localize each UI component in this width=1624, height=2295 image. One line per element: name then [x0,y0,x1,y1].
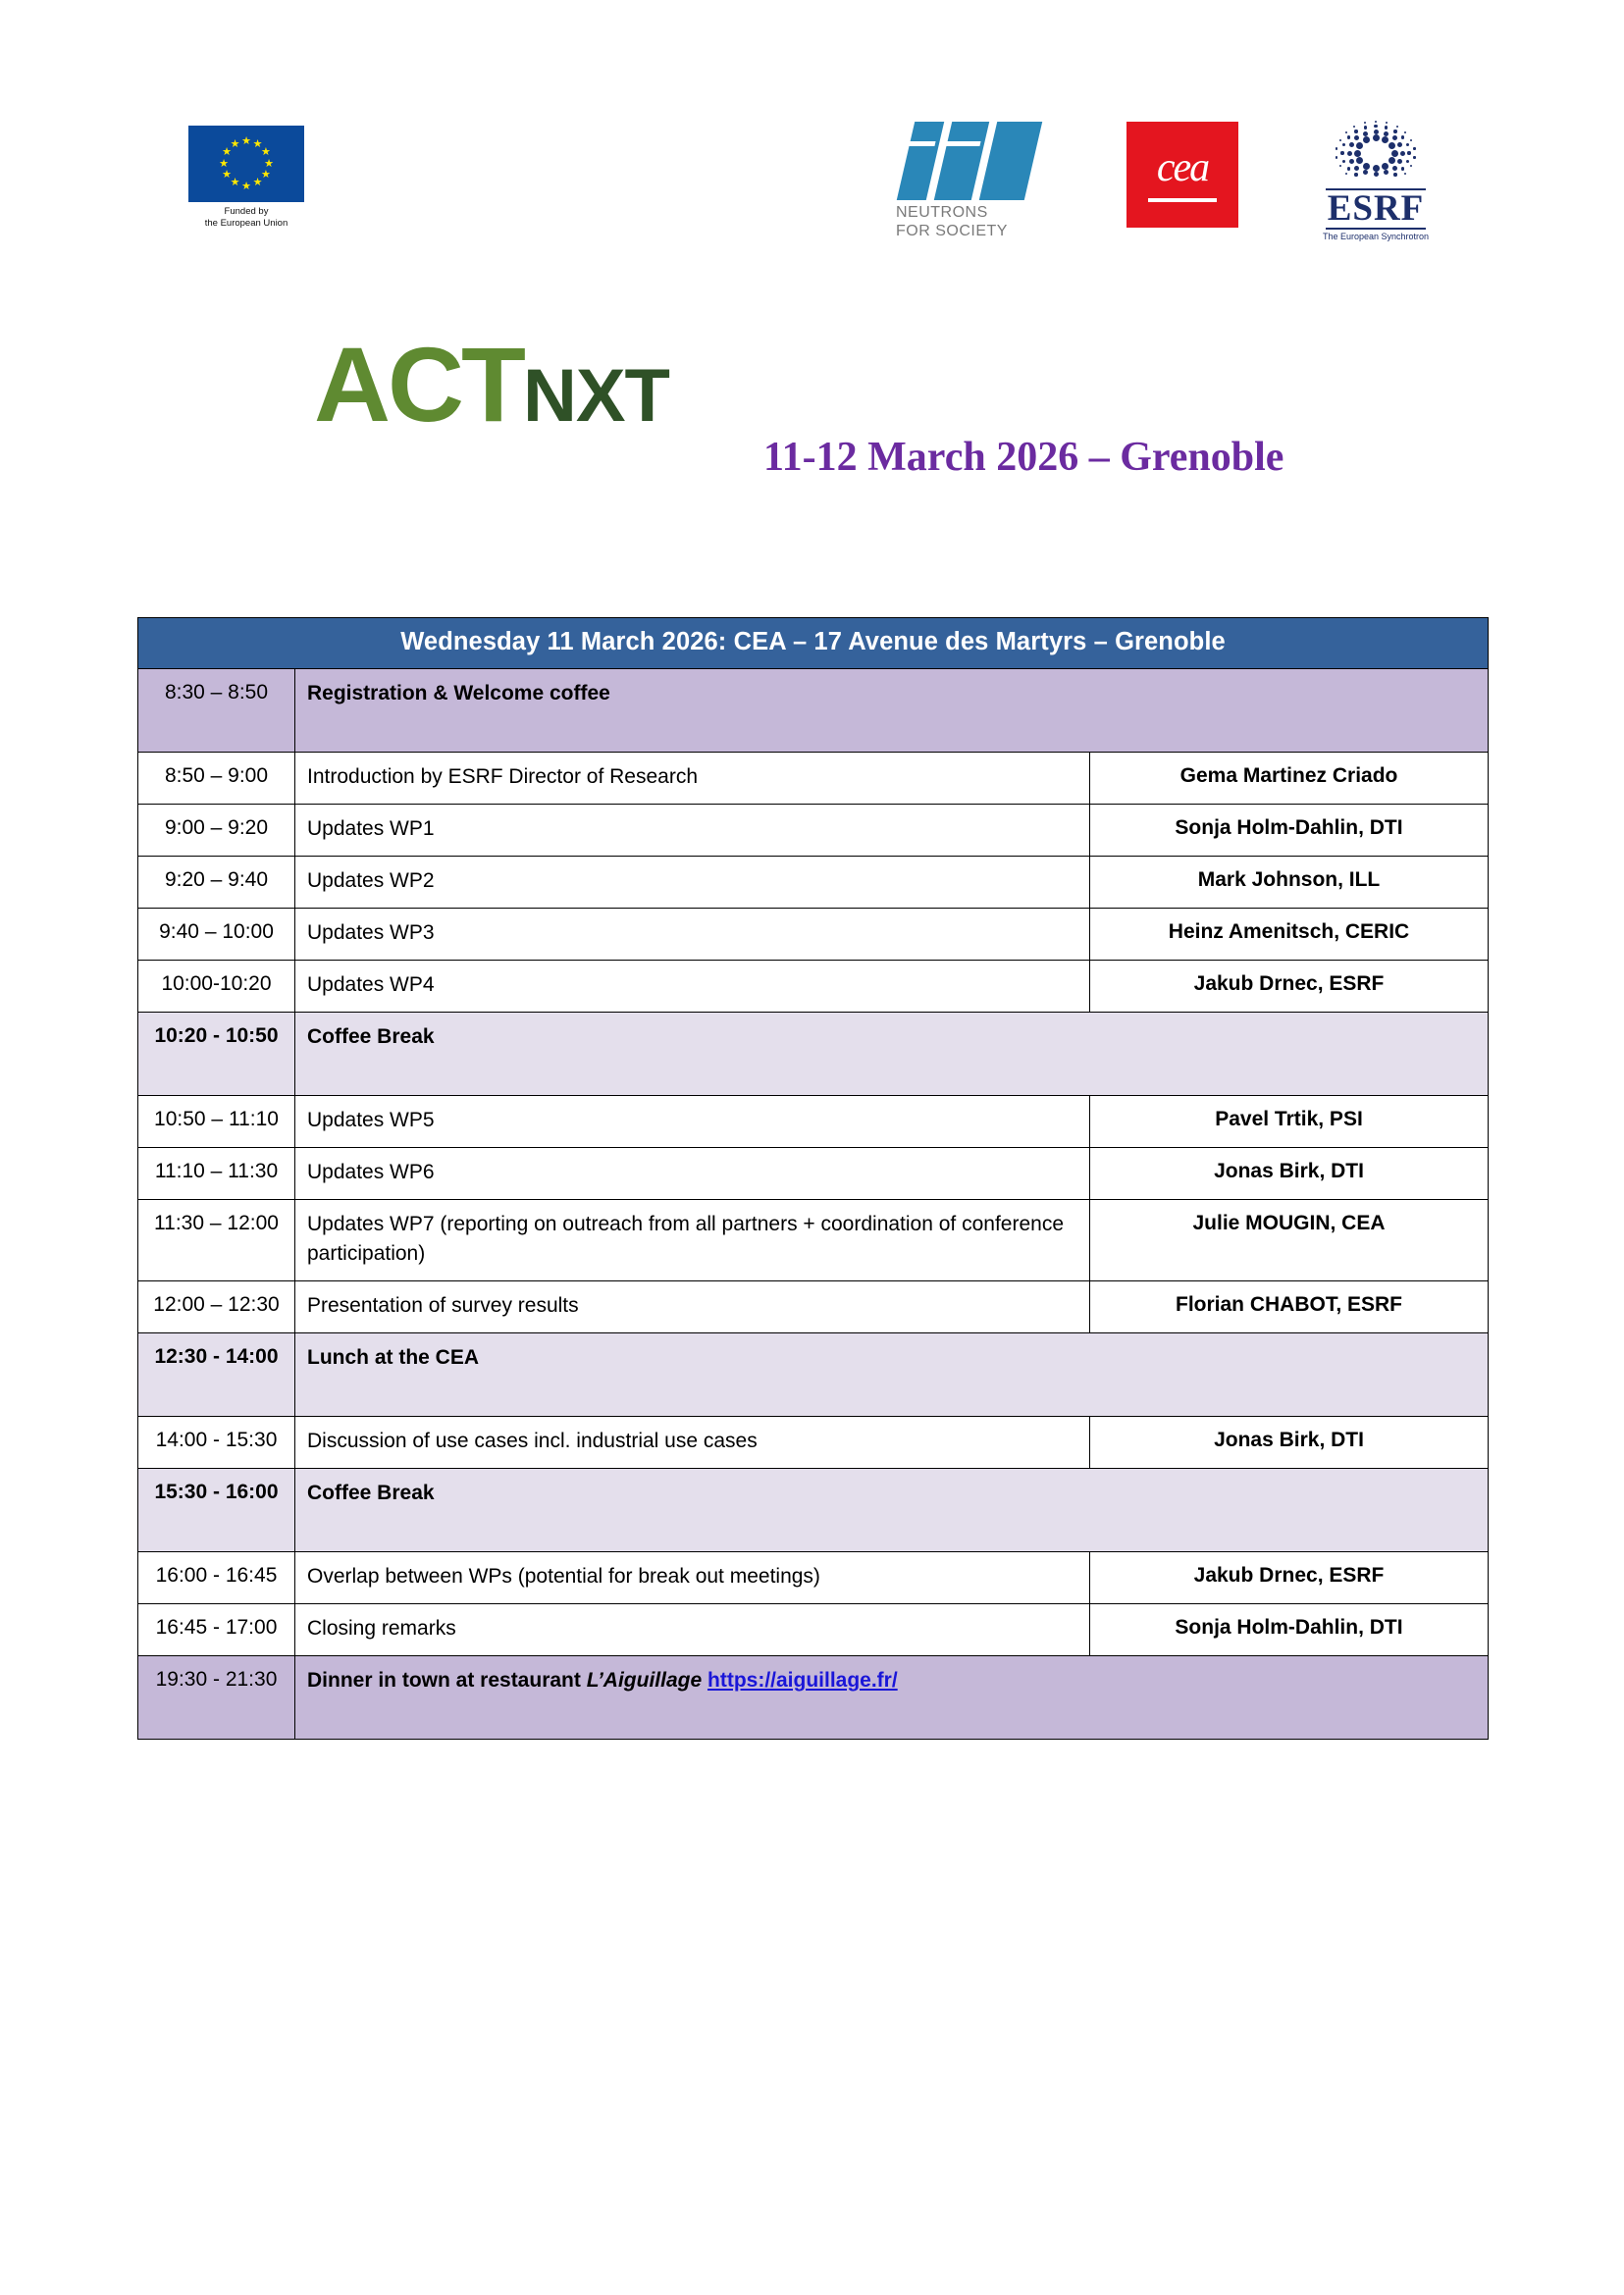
esrf-dot-icon [1397,159,1402,164]
esrf-dot-icon [1354,150,1361,157]
agenda-row-speaker: Jonas Birk, DTI [1090,1417,1489,1469]
esrf-dot-icon [1385,126,1388,129]
esrf-dot-icon [1413,156,1415,158]
agenda-row-time: 9:20 – 9:40 [138,857,295,909]
agenda-row-speaker: Julie MOUGIN, CEA [1090,1200,1489,1281]
ill-text-line2: FOR SOCIETY [896,222,1063,240]
agenda-row-activity: Updates WP1 [295,805,1090,857]
agenda-row-speaker: Pavel Trtik, PSI [1090,1096,1489,1148]
agenda-row-time: 16:45 - 17:00 [138,1604,295,1656]
esrf-dot-icon [1388,142,1395,149]
esrf-dot-icon [1375,121,1377,123]
esrf-dot-icon [1393,130,1396,132]
agenda-row-speaker: Sonja Holm-Dahlin, DTI [1090,805,1489,857]
agenda-row-time: 10:50 – 11:10 [138,1096,295,1148]
esrf-dot-icon [1342,143,1345,146]
agenda-row-time: 15:30 - 16:00 [138,1469,295,1552]
agenda-row-time: 9:40 – 10:00 [138,909,295,961]
esrf-dot-icon [1400,151,1405,156]
esrf-wordmark: ESRF [1326,188,1427,230]
agenda-row-activity: Dinner in town at restaurant L’Aiguillag… [295,1656,1489,1740]
agenda-row-activity: Overlap between WPs (potential for break… [295,1552,1090,1604]
agenda-row-speaker: Sonja Holm-Dahlin, DTI [1090,1604,1489,1656]
agenda-day-header-row: Wednesday 11 March 2026: CEA – 17 Avenue… [138,618,1489,669]
esrf-dot-icon [1347,135,1350,138]
eu-caption-line2: the European Union [183,218,310,230]
restaurant-website-link[interactable]: https://aiguillage.fr/ [707,1669,898,1692]
esrf-dot-icon [1384,131,1388,136]
eu-star-icon: ★ [222,170,233,181]
esrf-dot-icon [1339,165,1341,167]
agenda-row-activity: Coffee Break [295,1469,1489,1552]
esrf-dot-icon [1373,134,1380,141]
agenda-row-activity: Closing remarks [295,1604,1090,1656]
eu-star-icon: ★ [260,147,271,158]
actnxt-logo-act: ACT [314,325,523,443]
esrf-dot-icon [1336,147,1337,149]
esrf-dot-icon [1401,135,1404,138]
esrf-dot-icon [1392,166,1397,171]
esrf-dot-icon [1386,122,1388,124]
agenda-row-activity: Registration & Welcome coffee [295,669,1489,753]
actnxt-logo: ACTNXT [314,332,669,438]
esrf-dot-icon [1397,142,1402,147]
esrf-dot-icon [1340,151,1343,154]
esrf-dot-icon [1363,170,1368,175]
esrf-dot-icon [1374,172,1379,177]
esrf-dot-icon [1347,167,1350,170]
esrf-dot-icon [1339,139,1341,141]
agenda-row: 9:00 – 9:20Updates WP1Sonja Holm-Dahlin,… [138,805,1489,857]
esrf-tagline: The European Synchrotron [1307,232,1444,241]
agenda-row-speaker: Florian CHABOT, ESRF [1090,1281,1489,1333]
esrf-dot-icon [1407,151,1410,154]
agenda-row: 8:50 – 9:00Introduction by ESRF Director… [138,753,1489,805]
title-block: ACTNXT 11-12 March 2026 – Grenoble [0,332,1624,518]
agenda-row-speaker: Jakub Drnec, ESRF [1090,961,1489,1013]
esrf-logo: ESRF The European Synchrotron [1307,116,1444,241]
agenda-row-activity: Updates WP2 [295,857,1090,909]
esrf-ring-icon [1317,116,1435,188]
agenda-row: 15:30 - 16:00Coffee Break [138,1469,1489,1552]
eu-star-icon: ★ [230,139,240,150]
esrf-dot-icon [1374,125,1377,128]
agenda-row-speaker: Jakub Drnec, ESRF [1090,1552,1489,1604]
agenda-row-time: 12:30 - 14:00 [138,1333,295,1417]
eu-star-icon: ★ [252,178,263,188]
esrf-dot-icon [1336,156,1337,158]
dinner-prefix: Dinner in town at restaurant [307,1669,587,1692]
esrf-dot-icon [1373,165,1380,172]
agenda-row-activity: Updates WP5 [295,1096,1090,1148]
esrf-dot-icon [1406,160,1409,163]
agenda-row: 11:10 – 11:30Updates WP6Jonas Birk, DTI [138,1148,1489,1200]
eu-star-icon: ★ [241,136,252,147]
agenda-day-header: Wednesday 11 March 2026: CEA – 17 Avenue… [138,618,1489,669]
esrf-dot-icon [1349,159,1354,164]
esrf-dot-icon [1342,160,1345,163]
esrf-dot-icon [1353,126,1355,128]
esrf-dot-icon [1354,130,1357,132]
agenda-row: 9:40 – 10:00Updates WP3Heinz Amenitsch, … [138,909,1489,961]
agenda-row: 19:30 - 21:30Dinner in town at restauran… [138,1656,1489,1740]
esrf-dot-icon [1396,126,1398,128]
european-union-flag-icon: ★★★★★★★★★★★★ [188,126,304,202]
esrf-dot-icon [1363,136,1370,143]
agenda-row: 10:20 - 10:50Coffee Break [138,1013,1489,1096]
cea-logo: cea [1126,122,1238,228]
ill-text-line1: NEUTRONS [896,203,1063,222]
agenda-row-time: 19:30 - 21:30 [138,1656,295,1740]
agenda-row-time: 16:00 - 16:45 [138,1552,295,1604]
esrf-dot-icon [1413,147,1415,149]
agenda-row: 12:00 – 12:30Presentation of survey resu… [138,1281,1489,1333]
esrf-dot-icon [1401,167,1404,170]
agenda-row: 11:30 – 12:00Updates WP7 (reporting on o… [138,1200,1489,1281]
agenda-row-activity: Introduction by ESRF Director of Researc… [295,753,1090,805]
agenda-row-time: 8:30 – 8:50 [138,669,295,753]
agenda-row-time: 10:20 - 10:50 [138,1013,295,1096]
esrf-dot-icon [1356,142,1363,149]
agenda-row-time: 14:00 - 15:30 [138,1417,295,1469]
eu-caption-line1: Funded by [183,206,310,218]
esrf-dot-icon [1364,126,1367,129]
ill-logo: NEUTRONS FOR SOCIETY [896,122,1063,240]
actnxt-logo-nxt: NXT [523,354,669,438]
esrf-dot-icon [1388,157,1395,164]
agenda-row-speaker: Gema Martinez Criado [1090,753,1489,805]
esrf-dot-icon [1410,139,1412,141]
agenda-row-activity: Updates WP3 [295,909,1090,961]
agenda-table: Wednesday 11 March 2026: CEA – 17 Avenue… [137,617,1489,1740]
esrf-dot-icon [1404,131,1406,133]
esrf-dot-icon [1374,130,1379,134]
agenda-row-time: 8:50 – 9:00 [138,753,295,805]
esrf-dot-icon [1391,150,1398,157]
esrf-dot-icon [1410,165,1412,167]
european-union-logo: ★★★★★★★★★★★★ Funded by the European Unio… [183,126,310,229]
agenda-row-time: 10:00-10:20 [138,961,295,1013]
esrf-dot-icon [1349,142,1354,147]
esrf-dot-icon [1404,173,1406,175]
logo-strip: ★★★★★★★★★★★★ Funded by the European Unio… [0,116,1624,273]
agenda-row-activity: Lunch at the CEA [295,1333,1489,1417]
agenda-body: 8:30 – 8:50Registration & Welcome coffee… [138,669,1489,1740]
event-date: 11-12 March 2026 – Grenoble [763,435,1283,480]
esrf-dot-icon [1406,143,1409,146]
esrf-dot-icon [1345,131,1347,133]
esrf-dot-icon [1363,163,1370,170]
esrf-dot-icon [1354,173,1357,176]
agenda-row: 16:00 - 16:45Overlap between WPs (potent… [138,1552,1489,1604]
dinner-restaurant-name: L’Aiguillage [587,1669,702,1692]
agenda-row-speaker: Mark Johnson, ILL [1090,857,1489,909]
esrf-dot-icon [1347,151,1352,156]
agenda-row-activity: Presentation of survey results [295,1281,1090,1333]
esrf-dot-icon [1393,173,1396,176]
cea-wordmark: cea [1126,147,1238,188]
agenda-row: 9:20 – 9:40Updates WP2Mark Johnson, ILL [138,857,1489,909]
esrf-dot-icon [1364,122,1366,124]
agenda-row-speaker: Heinz Amenitsch, CERIC [1090,909,1489,961]
esrf-dot-icon [1345,173,1347,175]
agenda-table-container: Wednesday 11 March 2026: CEA – 17 Avenue… [137,617,1488,1740]
cea-underline [1148,198,1217,202]
esrf-dot-icon [1354,135,1359,140]
agenda-row-time: 11:30 – 12:00 [138,1200,295,1281]
cea-mark-icon: cea [1126,122,1238,228]
agenda-row-activity: Discussion of use cases incl. industrial… [295,1417,1090,1469]
esrf-dot-icon [1382,163,1388,170]
agenda-row-activity: Updates WP7 (reporting on outreach from … [295,1200,1090,1281]
esrf-dot-icon [1384,170,1388,175]
agenda-row-activity: Coffee Break [295,1013,1489,1096]
agenda-row: 14:00 - 15:30Discussion of use cases inc… [138,1417,1489,1469]
agenda-row-time: 9:00 – 9:20 [138,805,295,857]
eu-star-icon: ★ [241,182,252,192]
agenda-row-activity: Updates WP4 [295,961,1090,1013]
eu-star-icon: ★ [264,159,275,170]
esrf-dot-icon [1363,131,1368,136]
agenda-row: 12:30 - 14:00Lunch at the CEA [138,1333,1489,1417]
esrf-dot-icon [1356,157,1363,164]
agenda-row-speaker: Jonas Birk, DTI [1090,1148,1489,1200]
ill-mark-icon [896,122,1043,200]
agenda-row: 16:45 - 17:00Closing remarksSonja Holm-D… [138,1604,1489,1656]
agenda-row-activity: Updates WP6 [295,1148,1090,1200]
esrf-dot-icon [1382,136,1388,143]
eu-star-icon: ★ [219,159,230,170]
esrf-dot-icon [1354,166,1359,171]
agenda-row-time: 12:00 – 12:30 [138,1281,295,1333]
agenda-row: 10:00-10:20Updates WP4Jakub Drnec, ESRF [138,961,1489,1013]
agenda-row: 8:30 – 8:50Registration & Welcome coffee [138,669,1489,753]
esrf-dot-icon [1392,135,1397,140]
agenda-row-time: 11:10 – 11:30 [138,1148,295,1200]
agenda-row: 10:50 – 11:10Updates WP5Pavel Trtik, PSI [138,1096,1489,1148]
